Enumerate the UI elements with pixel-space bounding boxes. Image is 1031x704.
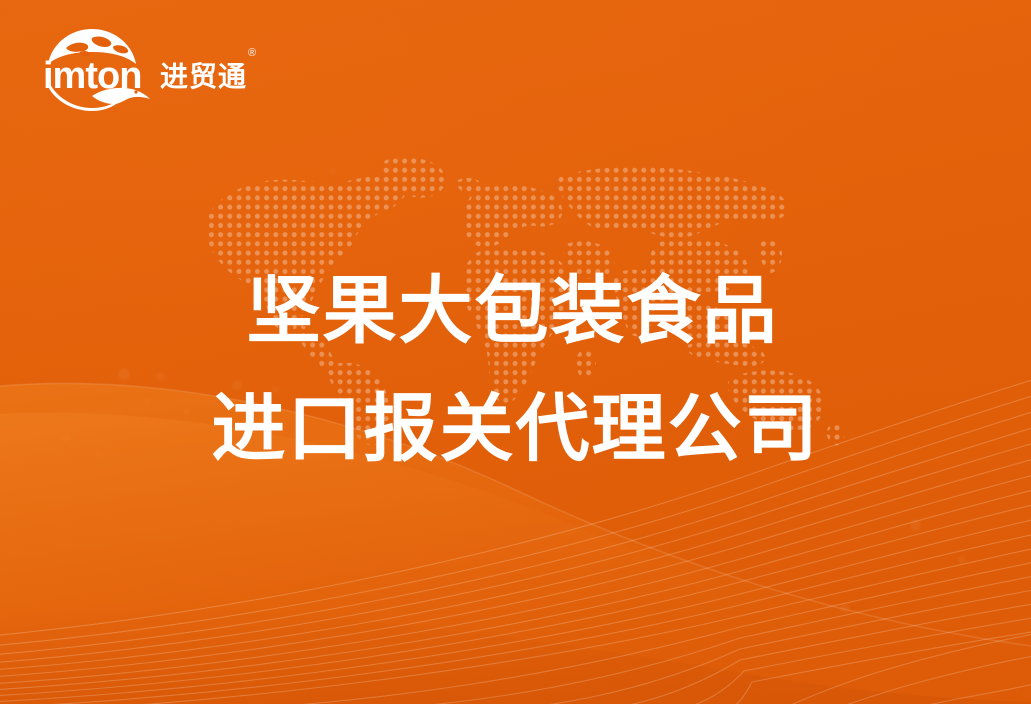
promo-banner: imton 进贸通 ® 坚果大包装食品 进口报关代理公司 <box>0 0 1031 704</box>
logo-chinese-name: 进贸通 <box>160 61 247 92</box>
registered-trademark-icon: ® <box>248 47 256 59</box>
logo-wordmark: imton <box>43 55 141 97</box>
brand-logo[interactable]: imton 进贸通 ® <box>40 26 260 112</box>
